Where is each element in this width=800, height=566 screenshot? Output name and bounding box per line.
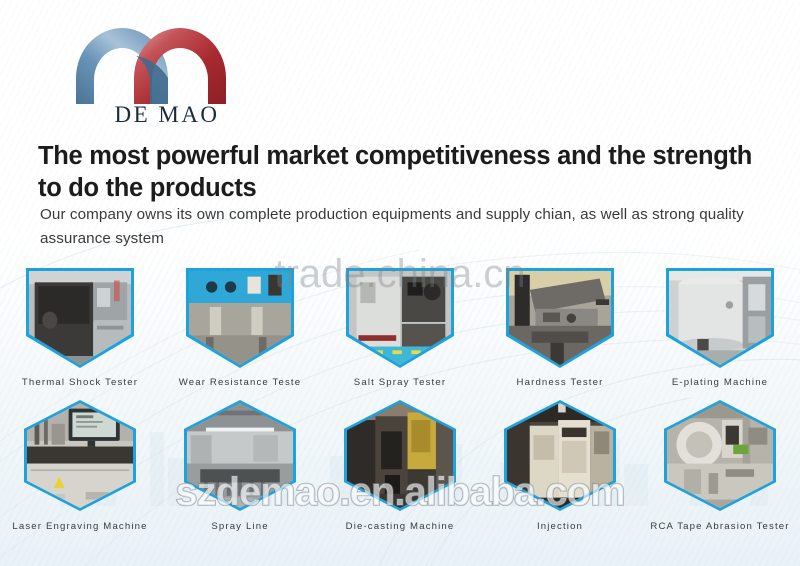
equipment-card[interactable]: Salt Spray Tester <box>320 268 480 396</box>
equipment-thumbnail[interactable] <box>24 400 136 511</box>
equipment-card[interactable]: Laser Engraving Machine <box>0 400 160 532</box>
company-banner: DE MAO The most powerful market competit… <box>0 0 800 566</box>
equipment-card[interactable]: Die-casting Machine <box>320 400 480 532</box>
thermal-shock-chamber-photo <box>29 271 131 365</box>
equipment-label: Wear Resistance Teste <box>179 377 301 388</box>
equipment-label: RCA Tape Abrasion Tester <box>650 521 789 532</box>
page-title: The most powerful market competitiveness… <box>38 140 768 204</box>
equipment-thumbnail[interactable] <box>504 400 616 511</box>
equipment-thumbnail[interactable] <box>186 268 294 368</box>
equipment-card[interactable]: Spray Line <box>160 400 320 532</box>
equipment-thumbnail[interactable] <box>26 268 134 368</box>
brand-logo: DE MAO <box>62 22 272 134</box>
hardness-tester-photo <box>509 271 611 365</box>
laser-engraving-machine-photo <box>27 403 133 508</box>
equipment-row-1: Thermal Shock Tester <box>0 268 800 396</box>
equipment-row-2: Laser Engraving Machine <box>0 400 800 532</box>
equipment-thumbnail[interactable] <box>184 400 296 511</box>
brand-wordmark: DE MAO <box>62 102 272 128</box>
equipment-label: Injection <box>537 521 583 532</box>
equipment-thumbnail[interactable] <box>666 268 774 368</box>
die-casting-machine-photo <box>347 403 453 508</box>
injection-molding-machines-photo <box>507 403 613 508</box>
wear-resistance-tester-photo <box>189 271 291 365</box>
spray-line-photo <box>187 403 293 508</box>
equipment-label: Hardness Tester <box>517 377 604 388</box>
electroplating-machine-photo <box>669 271 771 365</box>
equipment-label: E-plating Machine <box>672 377 768 388</box>
equipment-thumbnail[interactable] <box>664 400 776 511</box>
page-subtitle: Our company owns its own complete produc… <box>40 203 755 250</box>
equipment-label: Salt Spray Tester <box>354 377 446 388</box>
equipment-label: Laser Engraving Machine <box>12 521 147 532</box>
equipment-thumbnail[interactable] <box>506 268 614 368</box>
equipment-card[interactable]: Injection <box>480 400 640 532</box>
equipment-label: Thermal Shock Tester <box>22 377 138 388</box>
equipment-thumbnail[interactable] <box>344 400 456 511</box>
equipment-card[interactable]: E-plating Machine <box>640 268 800 396</box>
equipment-card[interactable]: Hardness Tester <box>480 268 640 396</box>
salt-spray-chamber-photo <box>349 271 451 365</box>
rca-tape-abrasion-tester-photo <box>667 403 773 508</box>
equipment-label: Die-casting Machine <box>346 521 455 532</box>
equipment-thumbnail[interactable] <box>346 268 454 368</box>
equipment-label: Spray Line <box>211 521 268 532</box>
double-arch-m-logo-icon <box>62 22 272 104</box>
equipment-card[interactable]: Thermal Shock Tester <box>0 268 160 396</box>
equipment-card[interactable]: Wear Resistance Teste <box>160 268 320 396</box>
equipment-card[interactable]: RCA Tape Abrasion Tester <box>640 400 800 532</box>
